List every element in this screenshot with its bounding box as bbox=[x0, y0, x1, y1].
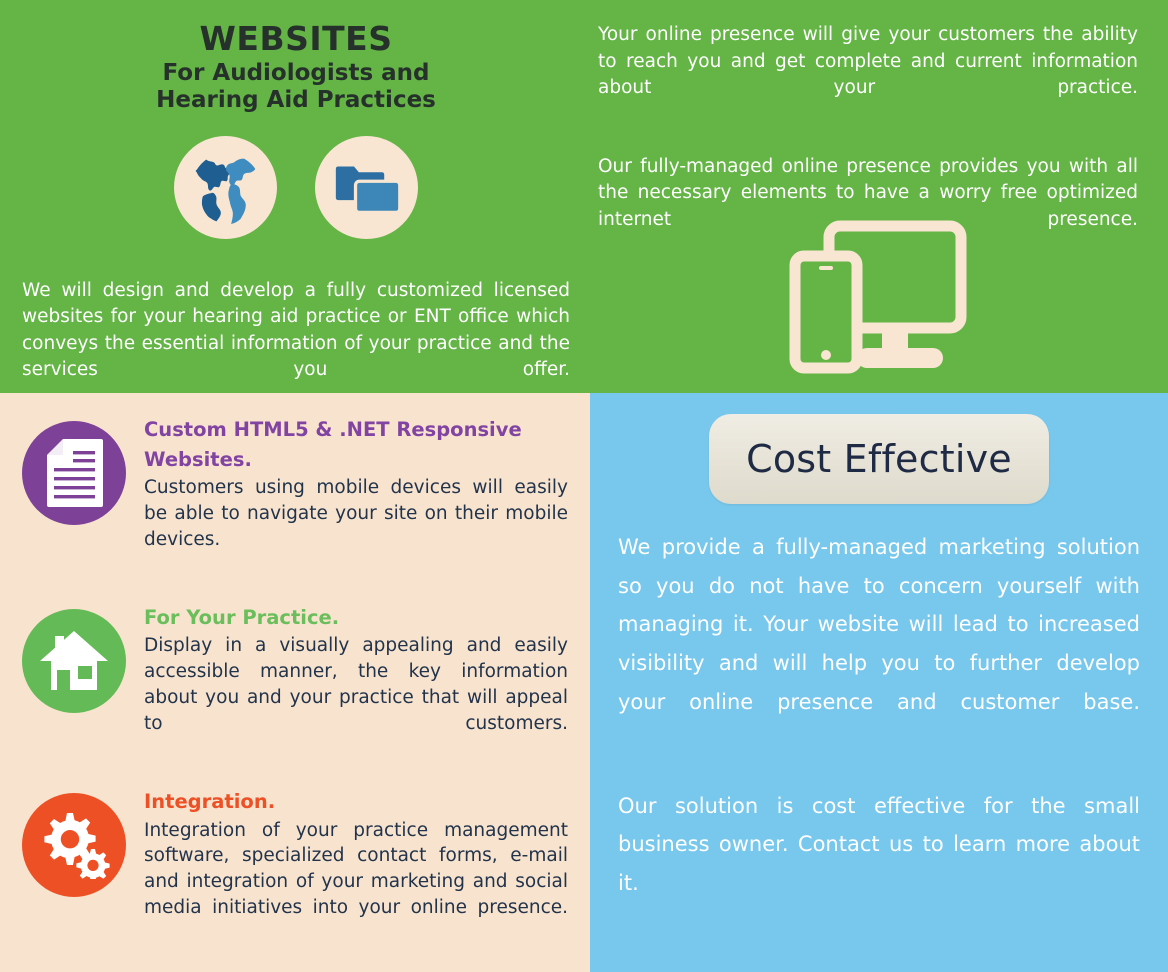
feature-item-websites: Custom HTML5 & .NET Responsive Websites.… bbox=[22, 415, 568, 579]
feature-text-integration: Integration. Integration of your practic… bbox=[144, 787, 568, 947]
header-green-band: WEBSITES For Audiologists and Hearing Ai… bbox=[0, 0, 1168, 393]
feature-heading-practice: For Your Practice. bbox=[144, 603, 568, 633]
cost-effective-panel: Cost Effective We provide a fully-manage… bbox=[590, 393, 1168, 972]
feature-text-practice: For Your Practice. Display in a visually… bbox=[144, 603, 568, 763]
header-left-column: WEBSITES For Audiologists and Hearing Ai… bbox=[0, 0, 590, 393]
cost-paragraph-2: Our solution is cost effective for the s… bbox=[618, 787, 1140, 942]
feature-text-websites: Custom HTML5 & .NET Responsive Websites.… bbox=[144, 415, 568, 579]
cost-effective-banner-label: Cost Effective bbox=[746, 437, 1012, 481]
page-subtitle-line2: Hearing Aid Practices bbox=[22, 87, 570, 114]
gears-icon bbox=[22, 793, 126, 897]
infographic-root: WEBSITES For Audiologists and Hearing Ai… bbox=[0, 0, 1168, 972]
header-right-column: Your online presence will give your cust… bbox=[590, 0, 1168, 393]
feature-item-practice: For Your Practice. Display in a visually… bbox=[22, 603, 568, 763]
feature-body-websites: Customers using mobile devices will easi… bbox=[144, 475, 568, 579]
feature-body-practice: Display in a visually appealing and easi… bbox=[144, 633, 568, 762]
feature-body-integration: Integration of your practice management … bbox=[144, 818, 568, 947]
feature-heading-websites: Custom HTML5 & .NET Responsive Websites. bbox=[144, 415, 568, 474]
header-paragraph-1: Your online presence will give your cust… bbox=[598, 22, 1138, 129]
globe-icon bbox=[174, 136, 277, 239]
feature-heading-integration: Integration. bbox=[144, 787, 568, 817]
page-subtitle: For Audiologists and Hearing Aid Practic… bbox=[22, 60, 570, 114]
header-icon-row bbox=[22, 136, 570, 239]
responsive-devices-icon-wrap bbox=[590, 212, 1168, 377]
header-blurb: We will design and develop a fully custo… bbox=[22, 278, 570, 409]
house-icon bbox=[22, 609, 126, 713]
features-panel: Custom HTML5 & .NET Responsive Websites.… bbox=[0, 393, 590, 972]
feature-item-integration: Integration. Integration of your practic… bbox=[22, 787, 568, 947]
page-title: WEBSITES bbox=[22, 22, 570, 57]
page-subtitle-line1: For Audiologists and bbox=[22, 60, 570, 87]
cost-effective-banner: Cost Effective bbox=[709, 414, 1049, 504]
folders-icon bbox=[315, 136, 418, 239]
document-icon bbox=[22, 421, 126, 525]
cost-paragraph-1: We provide a fully-managed marketing sol… bbox=[618, 528, 1140, 760]
responsive-devices-icon bbox=[789, 212, 969, 377]
